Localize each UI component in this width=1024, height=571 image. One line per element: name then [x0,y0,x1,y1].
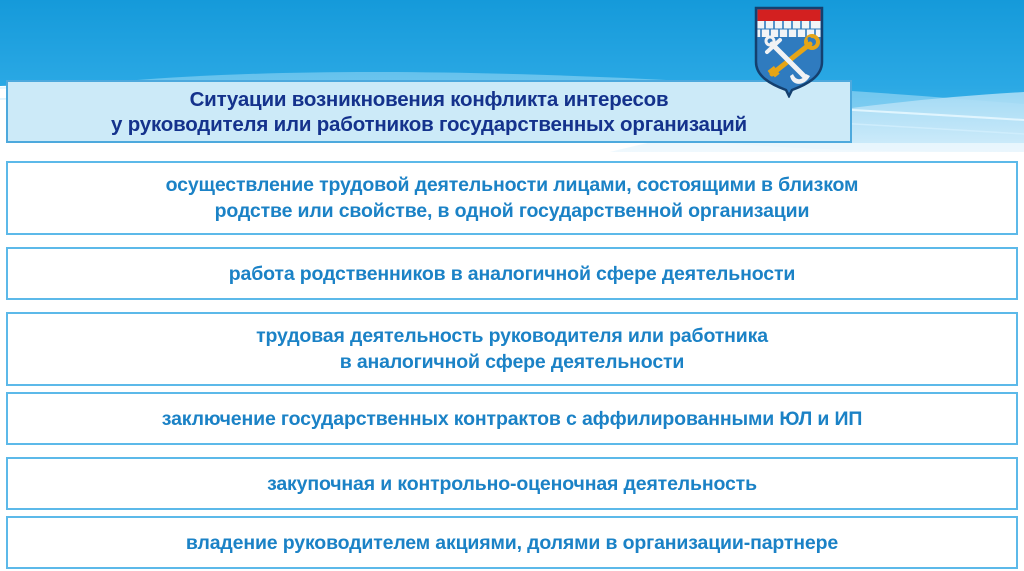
list-item[interactable]: владение руководителем акциями, долями в… [6,516,1018,569]
list-item[interactable]: трудовая деятельность руководителя или р… [6,312,1018,386]
list-item-label: заключение государственных контрактов с … [154,406,870,432]
leningrad-oblast-coat-of-arms-icon [752,4,826,98]
list-item-label: трудовая деятельность руководителя или р… [248,323,776,375]
banner-bottom-fade [0,143,1024,152]
list-item[interactable]: заключение государственных контрактов с … [6,392,1018,445]
slide-title-text: Ситуации возникновения конфликта интерес… [105,87,753,137]
list-item[interactable]: работа родственников в аналогичной сфере… [6,247,1018,300]
slide-title-box: Ситуации возникновения конфликта интерес… [6,80,852,143]
list-item[interactable]: закупочная и контрольно-оценочная деятел… [6,457,1018,510]
list-item-label: осуществление трудовой деятельности лица… [158,172,867,224]
list-item-label: владение руководителем акциями, долями в… [178,530,846,556]
slide-canvas: Ситуации возникновения конфликта интерес… [0,0,1024,571]
list-item-label: закупочная и контрольно-оценочная деятел… [259,471,765,497]
list-item-label: работа родственников в аналогичной сфере… [221,261,803,287]
list-item[interactable]: осуществление трудовой деятельности лица… [6,161,1018,235]
chief-red-band [758,10,821,22]
